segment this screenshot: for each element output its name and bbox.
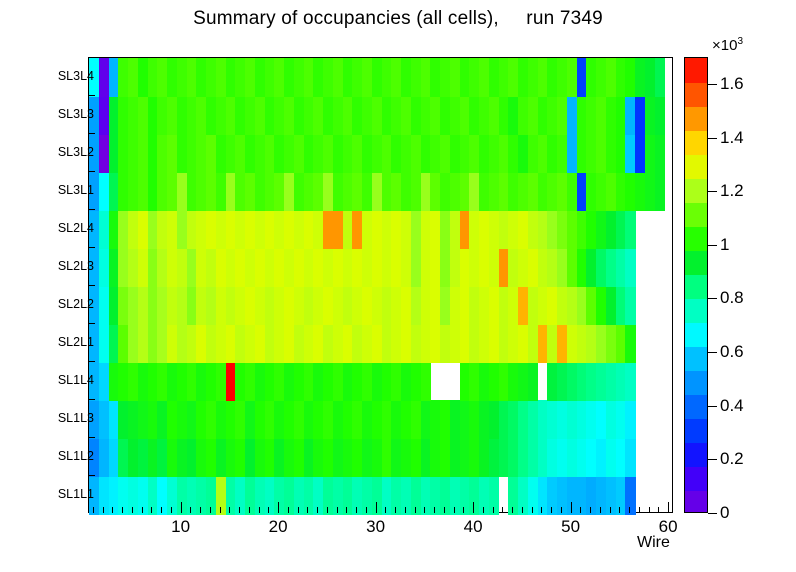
y-axis-label-sl2l3: SL2L3 [58,259,94,273]
color-scale-label-1: 1 [720,235,729,255]
x-axis-tick [444,507,445,513]
x-axis-tick [229,507,230,513]
color-scale-tick [708,513,717,514]
color-band [685,346,707,371]
x-axis-tick [532,507,533,513]
x-axis-tick [259,507,260,513]
heatmap-cell [528,362,538,401]
x-axis-tick [210,507,211,513]
color-scale-label-1p4: 1.4 [720,128,744,148]
heatmap-cells [89,58,672,512]
x-axis-tick [522,507,523,513]
x-axis-tick [405,507,406,513]
x-axis-tick [454,507,455,513]
heatmap-cell [421,362,431,401]
color-scale-tick [708,459,717,460]
color-band [685,82,707,107]
heatmap-plot-area[interactable] [88,57,673,513]
color-band [685,250,707,275]
y-axis-tick [88,171,95,172]
color-scale-label-0: 0 [720,503,729,523]
heatmap-cell [625,438,635,477]
x-axis-tick [327,507,328,513]
heatmap-cell [625,324,635,363]
x-axis-tick [395,507,396,513]
heatmap-cell [655,172,665,211]
x-axis-tick [385,507,386,513]
y-axis-label-sl2l1: SL2L1 [58,335,94,349]
y-axis-tick [88,285,95,286]
color-band [685,322,707,347]
y-axis-tick [88,133,95,134]
y-axis-label-sl1l4: SL1L4 [58,373,94,387]
heatmap-cell [489,476,499,515]
color-scale-tick [708,352,717,353]
y-axis-tick [88,399,95,400]
heatmap-cell [625,286,635,325]
y-axis-tick [88,95,95,96]
x-axis-tick [151,507,152,513]
y-axis-label-sl2l4: SL2L4 [58,221,94,235]
heatmap-cell [625,400,635,439]
color-band [685,442,707,467]
x-axis-tick [561,507,562,513]
heatmap-cell [655,134,665,173]
x-axis-tick [200,507,201,513]
x-axis-tick [415,507,416,513]
x-axis-tick [483,507,484,513]
x-axis-tick [649,507,650,513]
heatmap-cell [625,248,635,287]
color-band [685,418,707,443]
x-axis-tick [356,507,357,513]
y-axis-tick [88,437,95,438]
x-axis-tick [220,507,221,513]
color-scale-label-1p2: 1.2 [720,181,744,201]
color-scale-label-1p6: 1.6 [720,74,744,94]
x-axis-tick [132,507,133,513]
color-scale-tick [708,84,717,85]
color-scale-label-0p8: 0.8 [720,288,744,308]
color-scale-tick [708,245,717,246]
x-axis-tick [629,507,630,513]
color-band [685,154,707,179]
x-axis-tick [551,507,552,513]
y-axis-label-sl1l1: SL1L1 [58,487,94,501]
x-axis-label-30: 30 [366,517,385,537]
heatmap-cell [655,96,665,135]
color-scale-tick [708,406,717,407]
x-axis-tick [249,507,250,513]
y-axis-tick [88,247,95,248]
x-axis-tick [668,502,669,513]
x-axis-tick [571,502,572,513]
x-axis-title: Wire [637,534,670,552]
heatmap-cell [625,362,635,401]
color-scale-tick [708,138,717,139]
x-axis-label-10: 10 [171,517,190,537]
heatmap-cell [655,58,665,97]
color-band [685,178,707,203]
x-axis-tick [600,507,601,513]
color-band [685,58,707,83]
x-axis-tick [278,502,279,513]
x-axis-tick [112,507,113,513]
x-axis-tick [142,507,143,513]
x-axis-tick [181,502,182,513]
x-axis-label-50: 50 [561,517,580,537]
x-axis-tick [658,507,659,513]
y-axis-label-sl3l1: SL3L1 [58,183,94,197]
x-axis-tick [366,507,367,513]
x-axis-tick [610,507,611,513]
color-scale-tick [708,298,717,299]
x-axis-tick [346,507,347,513]
x-axis-tick [580,507,581,513]
color-band [685,226,707,251]
x-axis-tick [337,507,338,513]
color-scale-label-0p6: 0.6 [720,342,744,362]
x-axis-tick [268,507,269,513]
x-axis-tick [463,507,464,513]
y-axis-label-sl1l3: SL1L3 [58,411,94,425]
color-band [685,106,707,131]
y-axis-label-sl3l3: SL3L3 [58,107,94,121]
color-band [685,490,707,513]
y-axis-tick [88,361,95,362]
color-band [685,202,707,227]
x-axis-tick [171,507,172,513]
y-axis-label-sl3l4: SL3L4 [58,69,94,83]
y-axis-label-sl1l2: SL1L2 [58,449,94,463]
x-axis-tick [93,507,94,513]
x-axis-tick [239,507,240,513]
color-band [685,298,707,323]
color-scale-exponent: ×103 [712,36,743,54]
x-axis-tick [473,502,474,513]
x-axis-label-20: 20 [269,517,288,537]
x-axis-tick [317,507,318,513]
color-scale-bar [684,57,708,513]
y-axis-label-sl3l2: SL3L2 [58,145,94,159]
color-band [685,466,707,491]
x-axis-tick [190,507,191,513]
x-axis-tick [122,507,123,513]
color-scale-label-0p2: 0.2 [720,449,744,469]
x-axis-tick [307,507,308,513]
x-axis-tick [424,507,425,513]
x-axis-tick [298,507,299,513]
x-axis-tick [103,507,104,513]
heatmap-cell [625,476,635,515]
y-axis-tick [88,475,95,476]
x-axis-tick [512,507,513,513]
y-axis-label-sl2l2: SL2L2 [58,297,94,311]
x-axis-tick [161,507,162,513]
color-band [685,394,707,419]
y-axis-tick [88,209,95,210]
x-axis-tick [619,507,620,513]
x-axis-tick [376,502,377,513]
chart-canvas: Summary of occupancies (all cells), run … [0,0,796,572]
x-axis-label-40: 40 [464,517,483,537]
heatmap-cell [625,210,635,249]
x-axis-tick [639,507,640,513]
color-band [685,130,707,155]
x-axis-tick [288,507,289,513]
y-axis-tick [88,323,95,324]
x-axis-tick [493,507,494,513]
chart-title: Summary of occupancies (all cells), run … [0,8,796,30]
color-scale-label-0p4: 0.4 [720,396,744,416]
color-scale-tick [708,191,717,192]
color-band [685,370,707,395]
x-axis-tick [541,507,542,513]
x-axis-tick [434,507,435,513]
x-axis-tick [502,507,503,513]
color-band [685,274,707,299]
x-axis-tick [590,507,591,513]
